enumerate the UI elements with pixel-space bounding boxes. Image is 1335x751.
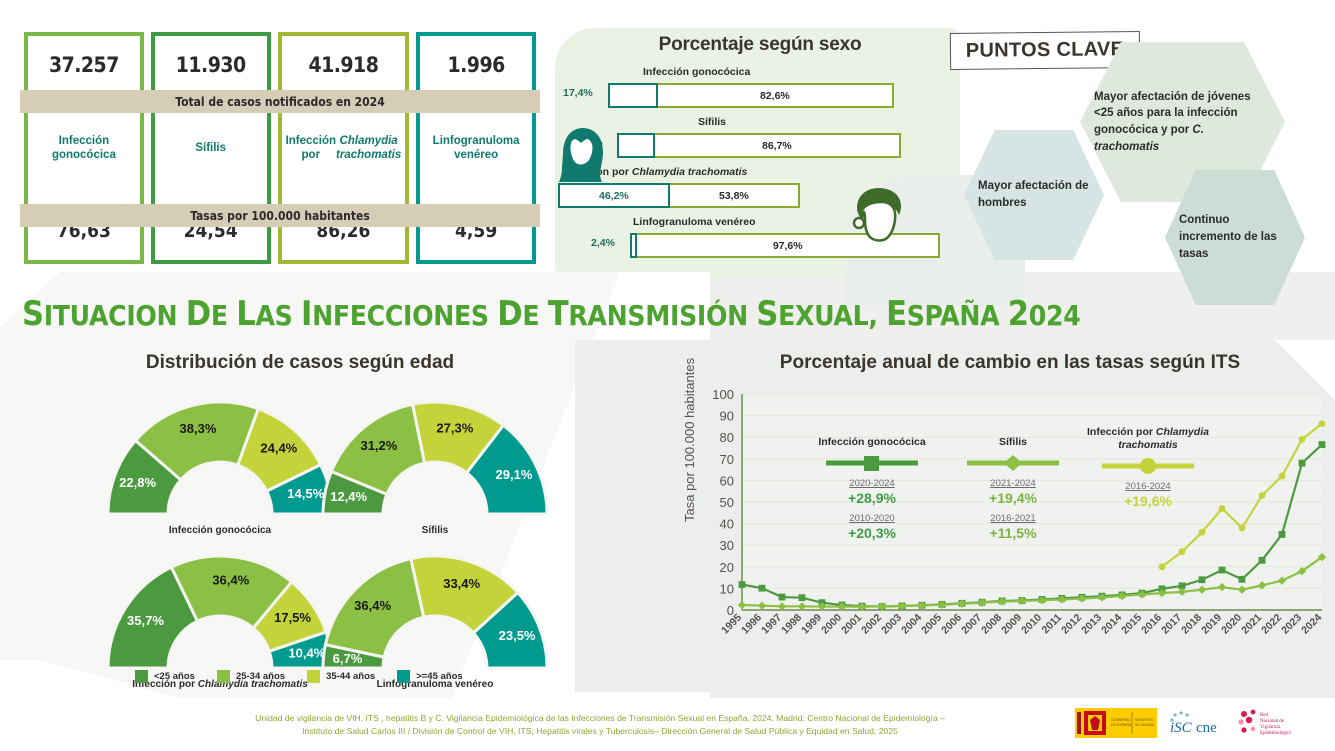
stat-value: +28,9% bbox=[792, 490, 952, 506]
chart-legend-stat: 2016-2024 +19,6% bbox=[1068, 481, 1228, 509]
donut-slice-label: 24,4% bbox=[260, 441, 297, 456]
donut-chart-sifilis: 12,4%31,2%27,3%29,1% Sífilis bbox=[320, 396, 550, 536]
x-axis-tick: 2017 bbox=[1159, 612, 1184, 637]
donut-slice-label: 12,4% bbox=[330, 489, 367, 504]
page-title-text: SITUACION DE LAS INFECCIONES DE TRANSMIS… bbox=[22, 299, 1080, 332]
svg-text:cne: cne bbox=[1196, 720, 1217, 736]
y-axis-tick: 90 bbox=[720, 409, 734, 424]
series-marker bbox=[1259, 492, 1266, 499]
sex-male-segment: 82,6% bbox=[658, 83, 894, 108]
sex-row-label: Sífilis bbox=[698, 116, 726, 128]
svg-text:DE SANIDAD: DE SANIDAD bbox=[1135, 723, 1155, 727]
legend-swatch bbox=[217, 670, 230, 683]
chart-legend-name: Infección gonocócica bbox=[792, 436, 952, 449]
series-marker bbox=[779, 594, 786, 601]
isciii-cne-logo: iSC cne bbox=[1165, 708, 1227, 738]
y-axis-tick: 40 bbox=[720, 517, 734, 532]
x-axis-tick: 1996 bbox=[739, 612, 764, 637]
key-point-text: Mayor afectación de jóvenes <25 años par… bbox=[1094, 91, 1251, 136]
donut-slice-label: 27,3% bbox=[436, 420, 473, 435]
stat-value: +20,3% bbox=[792, 525, 952, 541]
chart-legend-marker-circle bbox=[1098, 458, 1198, 474]
x-axis-tick: 2022 bbox=[1259, 612, 1284, 637]
band-rates: Tasas por 100.000 habitantes bbox=[20, 204, 540, 227]
y-axis-tick: 100 bbox=[712, 388, 734, 402]
donut-chart-gonococica: 22,8%38,3%24,4%14,5% Infección gonocócic… bbox=[105, 396, 335, 536]
x-axis-tick: 1999 bbox=[799, 612, 824, 637]
series-marker bbox=[1279, 531, 1286, 538]
x-axis-tick: 2019 bbox=[1199, 612, 1224, 637]
stat-count: 1.996 bbox=[420, 36, 532, 94]
y-axis-tick: 30 bbox=[720, 538, 734, 553]
x-axis-tick: 2004 bbox=[899, 612, 924, 637]
chart-legend-gonococica: Infección gonocócica 2020-2024 +28,9% 20… bbox=[792, 436, 952, 541]
sex-male-segment: 86,7% bbox=[655, 133, 901, 158]
series-marker bbox=[1199, 576, 1206, 583]
x-axis-tick: 1997 bbox=[759, 612, 784, 637]
sex-percentage-panel: Porcentaje según sexo Infección gonocóci… bbox=[555, 28, 965, 283]
x-axis-tick: 2024 bbox=[1299, 612, 1324, 637]
x-axis-tick: 2006 bbox=[939, 612, 964, 637]
footer-line-2: Instituto de Salud Carlos III / División… bbox=[150, 725, 1050, 738]
series-marker bbox=[1159, 563, 1166, 570]
sex-row-label-italic: Chlamydia trachomatis bbox=[632, 166, 748, 178]
chart-legend-stat: 2020-2024 +28,9% bbox=[792, 478, 952, 506]
series-marker bbox=[1199, 529, 1206, 536]
sex-female-segment: 46,2% bbox=[558, 183, 670, 208]
chart-legend-name-text: Infección por bbox=[1087, 426, 1153, 438]
x-axis-tick: 2018 bbox=[1179, 612, 1204, 637]
donut-slice-label: 29,1% bbox=[496, 467, 533, 482]
donut-slice-label: 23,5% bbox=[499, 628, 536, 643]
x-axis-tick: 2014 bbox=[1099, 612, 1124, 637]
legend-item-35-44: 35-44 años bbox=[307, 670, 375, 683]
y-axis-tick: 60 bbox=[720, 473, 734, 488]
x-axis-tick: 2021 bbox=[1239, 612, 1264, 637]
stat-label-text: Infección por bbox=[286, 134, 336, 163]
donut-slice-label: 22,8% bbox=[119, 475, 156, 490]
x-axis-tick: 2007 bbox=[959, 612, 984, 637]
age-distribution-section: Distribución de casos según edad 22,8%38… bbox=[20, 352, 580, 697]
donut-slice-label: 36,4% bbox=[212, 573, 249, 588]
x-axis-tick: 2002 bbox=[859, 612, 884, 637]
band-total-cases: Total de casos notificados en 2024 bbox=[20, 90, 540, 113]
donut-slice-label: 14,5% bbox=[287, 486, 324, 501]
x-axis-tick: 1998 bbox=[779, 612, 804, 637]
sex-female-segment bbox=[617, 133, 655, 158]
series-marker bbox=[1299, 436, 1306, 443]
stat-period: 2010-2020 bbox=[792, 513, 952, 524]
red-nacional-de-vigilancia-epidemiologica-logo: Red Nacional de Vigilancia Epidemiológic… bbox=[1235, 707, 1291, 739]
donut-slice-label: 36,4% bbox=[354, 598, 391, 613]
donut-caption: Infección gonocócica bbox=[105, 525, 335, 536]
sex-female-pct: 17,4% bbox=[563, 87, 593, 99]
page-title: SITUACION DE LAS INFECCIONES DE TRANSMIS… bbox=[22, 294, 1080, 334]
donut-slice-label: 38,3% bbox=[180, 421, 217, 436]
series-marker bbox=[739, 581, 746, 588]
legend-label: >=45 años bbox=[416, 671, 462, 682]
stat-column-chlamydia: 41.918 Infección por Chlamydia trachomat… bbox=[278, 32, 410, 264]
chart-legend-sifilis: Sífilis 2021-2024 +19,4% 2016-2021 +11,5… bbox=[948, 436, 1078, 541]
legend-label: <25 años bbox=[154, 671, 195, 682]
woman-icon bbox=[553, 124, 609, 186]
svg-text:DE ESPAÑA: DE ESPAÑA bbox=[1111, 722, 1132, 727]
x-axis-tick: 2012 bbox=[1059, 612, 1084, 637]
stat-period: 2021-2024 bbox=[948, 478, 1078, 489]
stat-value: +19,4% bbox=[948, 490, 1078, 506]
y-axis-tick: 70 bbox=[720, 452, 734, 467]
donut-svg: 12,4%31,2%27,3%29,1% bbox=[320, 396, 550, 518]
sex-row-sifilis: Sífilis 13,3% 86,7% bbox=[555, 116, 965, 166]
x-axis-tick: 2011 bbox=[1040, 612, 1065, 637]
donut-chart-chlamydia: 35,7%36,4%17,5%10,4% Infección por Chlam… bbox=[105, 550, 335, 690]
svg-text:Vigilancia: Vigilancia bbox=[1260, 725, 1281, 730]
legend-item-under25: <25 años bbox=[135, 670, 195, 683]
series-marker bbox=[1239, 525, 1246, 532]
series-marker bbox=[1259, 557, 1266, 564]
sex-female-segment bbox=[608, 83, 658, 108]
summary-stats-table: 37.257 Infección gonocócica 76,63 11.930… bbox=[24, 32, 536, 264]
stat-column-linfogranuloma: 1.996 Linfogranuloma venéreo 4,59 bbox=[416, 32, 536, 264]
donut-svg: 35,7%36,4%17,5%10,4% bbox=[105, 550, 335, 672]
svg-text:Red: Red bbox=[1260, 713, 1269, 718]
sex-male-segment: 53,8% bbox=[670, 183, 800, 208]
gobierno-de-espana-ministerio-de-sanidad-logo: GOBIERNO DE ESPAÑA MINISTERIO DE SANIDAD bbox=[1075, 708, 1157, 738]
x-axis-tick: 2003 bbox=[879, 612, 904, 637]
stat-label-text: Infección gonocócica bbox=[32, 134, 136, 163]
series-marker bbox=[1279, 473, 1286, 480]
series-marker bbox=[1319, 420, 1326, 427]
chart-legend-stat: 2021-2024 +19,4% bbox=[948, 478, 1078, 506]
stat-value: +19,6% bbox=[1068, 493, 1228, 509]
sex-row-label: Linfogranuloma venéreo bbox=[633, 216, 756, 228]
donut-slice-label: 17,5% bbox=[274, 610, 311, 625]
chart-legend-marker-square bbox=[822, 455, 922, 471]
chart-legend-chlamydia: Infección por Chlamydia trachomatis 2016… bbox=[1068, 426, 1228, 509]
key-point-hex-men: Mayor afectación de hombres bbox=[964, 130, 1104, 260]
svg-text:Epidemiológica: Epidemiológica bbox=[1260, 731, 1291, 736]
stat-count: 37.257 bbox=[28, 36, 140, 94]
legend-swatch bbox=[135, 670, 148, 683]
donut-chart-grid: 22,8%38,3%24,4%14,5% Infección gonocócic… bbox=[20, 388, 580, 688]
sex-female-segment bbox=[630, 233, 637, 258]
stat-period: 2016-2024 bbox=[1068, 481, 1228, 492]
series-marker bbox=[1219, 567, 1226, 574]
stat-count: 41.918 bbox=[282, 36, 406, 94]
x-axis-tick: 2020 bbox=[1219, 612, 1244, 637]
donut-svg: 6,7%36,4%33,4%23,5% bbox=[320, 550, 550, 672]
series-marker bbox=[1319, 441, 1326, 448]
y-axis-tick: 80 bbox=[720, 430, 734, 445]
series-marker bbox=[799, 594, 806, 601]
chart-legend-name: Sífilis bbox=[948, 436, 1078, 449]
chart-legend-stat: 2016-2021 +11,5% bbox=[948, 513, 1078, 541]
x-axis-tick: 2001 bbox=[839, 612, 864, 637]
svg-text:iSC: iSC bbox=[1170, 720, 1193, 736]
svg-text:GOBIERNO: GOBIERNO bbox=[1111, 718, 1131, 722]
sex-female-pct: 2,4% bbox=[591, 237, 615, 249]
chart-legend-marker-diamond bbox=[963, 455, 1063, 471]
stat-period: 2016-2021 bbox=[948, 513, 1078, 524]
donut-slice-label: 35,7% bbox=[127, 613, 164, 628]
x-axis-tick: 2008 bbox=[979, 612, 1004, 637]
stat-column-sifilis: 11.930 Sífilis 24,54 bbox=[151, 32, 271, 264]
man-icon bbox=[845, 186, 907, 244]
footer-citation: Unidad de vigilancia de VIH, ITS , hepat… bbox=[150, 712, 1050, 738]
age-legend: <25 años 25-34 años 35-44 años >=45 años bbox=[135, 670, 463, 683]
y-axis-tick: 10 bbox=[720, 581, 734, 596]
donut-chart-linfogranuloma: 6,7%36,4%33,4%23,5% Linfogranuloma venér… bbox=[320, 550, 550, 690]
key-point-text: Continuo incremento de las tasas bbox=[1179, 214, 1277, 259]
svg-text:Nacional de: Nacional de bbox=[1260, 719, 1285, 724]
age-section-title: Distribución de casos según edad bbox=[20, 352, 580, 374]
sex-row-gonococica: Infección gonocócica 17,4% 82,6% bbox=[555, 66, 965, 116]
stat-column-gonococica: 37.257 Infección gonocócica 76,63 bbox=[24, 32, 144, 264]
legend-item-45plus: >=45 años bbox=[397, 670, 462, 683]
stat-count: 11.930 bbox=[155, 36, 267, 94]
donut-svg: 22,8%38,3%24,4%14,5% bbox=[105, 396, 335, 518]
x-axis-tick: 2015 bbox=[1119, 612, 1144, 637]
x-axis-tick: 2023 bbox=[1279, 612, 1304, 637]
legend-item-25-34: 25-34 años bbox=[217, 670, 285, 683]
stat-label-italic: Chlamydia trachomatis bbox=[336, 134, 401, 163]
series-marker bbox=[1239, 576, 1246, 583]
donut-slice-label: 33,4% bbox=[443, 576, 480, 591]
y-axis-tick: 50 bbox=[720, 495, 734, 510]
legend-label: 25-34 años bbox=[236, 671, 285, 682]
stat-value: +11,5% bbox=[948, 525, 1078, 541]
svg-text:MINISTERIO: MINISTERIO bbox=[1135, 718, 1154, 722]
chart-legend-name: Infección por Chlamydia trachomatis bbox=[1068, 426, 1228, 452]
x-axis-tick: 2009 bbox=[999, 612, 1024, 637]
footer-logos: GOBIERNO DE ESPAÑA MINISTERIO DE SANIDAD… bbox=[1075, 707, 1291, 739]
legend-swatch bbox=[397, 670, 410, 683]
sex-row-label: Infección gonocócica bbox=[643, 66, 750, 78]
x-axis-tick: 2016 bbox=[1139, 612, 1164, 637]
legend-swatch bbox=[307, 670, 320, 683]
x-axis-tick: 2010 bbox=[1019, 612, 1044, 637]
key-point-text: Mayor afectación de hombres bbox=[978, 180, 1089, 209]
x-axis-tick: 2013 bbox=[1079, 612, 1104, 637]
series-marker bbox=[1179, 548, 1186, 555]
stat-period: 2020-2024 bbox=[792, 478, 952, 489]
sex-panel-title: Porcentaje según sexo bbox=[555, 34, 965, 56]
series-marker bbox=[759, 585, 766, 592]
stat-label-text: Sífilis bbox=[195, 141, 226, 155]
donut-caption: Sífilis bbox=[320, 525, 550, 536]
stat-label-text: Linfogranuloma venéreo bbox=[424, 134, 528, 163]
chart-legend-stat: 2010-2020 +20,3% bbox=[792, 513, 952, 541]
y-axis-tick: 20 bbox=[720, 560, 734, 575]
series-marker bbox=[1299, 460, 1306, 467]
legend-label: 35-44 años bbox=[326, 671, 375, 682]
donut-slice-label: 31,2% bbox=[360, 438, 397, 453]
key-points-panel: PUNTOS CLAVE Mayor afectación de jóvenes… bbox=[940, 20, 1335, 285]
line-chart-title: Porcentaje anual de cambio en las tasas … bbox=[690, 352, 1330, 374]
rates-trend-section: Porcentaje anual de cambio en las tasas … bbox=[690, 352, 1330, 692]
footer-line-1: Unidad de vigilancia de VIH, ITS , hepat… bbox=[150, 712, 1050, 725]
infographic-root: 37.257 Infección gonocócica 76,63 11.930… bbox=[0, 0, 1335, 751]
x-axis-tick: 2005 bbox=[919, 612, 944, 637]
x-axis-tick: 1995 bbox=[719, 612, 744, 637]
x-axis-tick: 2000 bbox=[819, 612, 844, 637]
